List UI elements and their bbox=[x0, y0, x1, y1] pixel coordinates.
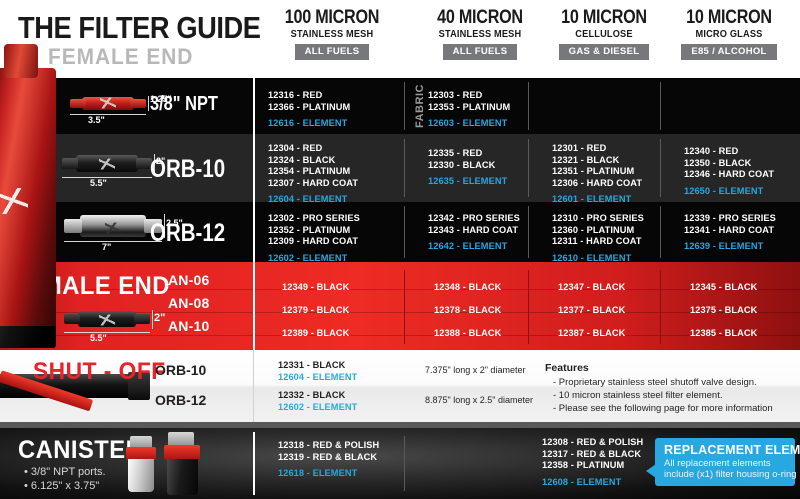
column-header-10-micron-micro-glass: 10 MICRON MICRO GLASS E85 / ALCOHOL bbox=[655, 8, 800, 60]
section-shut-off: SHUT - OFF ORB-10 ORB-12 12331 - BLACK 1… bbox=[0, 350, 800, 422]
cell-male-end-100-micron: 12349 - BLACK 12379 - BLACK 12389 - BLAC… bbox=[282, 276, 364, 350]
cell-orb-10-40-micron: 12335 - RED 12330 - BLACK 12635 - ELEMEN… bbox=[428, 148, 510, 188]
dimension-note-orb-10: 7.375" long x 2" diameter bbox=[425, 365, 525, 375]
cell-orb-10-10-micron-micro-glass: 12340 - RED 12350 - BLACK 12346 - HARD C… bbox=[684, 146, 777, 197]
part-number: 12311 - HARD COAT bbox=[552, 236, 644, 248]
part-number: 12354 - PLATINUM bbox=[268, 166, 380, 178]
part-number: 12309 - HARD COAT bbox=[268, 236, 360, 248]
part-number: 12351 - PLATINUM bbox=[552, 166, 642, 178]
cell-orb-12-10-micron-cellulose: 12310 - PRO SERIES 12360 - PLATINUM 1231… bbox=[552, 213, 647, 262]
element-part-number: 12602 - ELEMENT bbox=[268, 253, 360, 262]
column-media-label: CELLULOSE bbox=[536, 29, 672, 40]
part-number: 12307 - HARD COAT bbox=[268, 178, 380, 190]
part-number: 12308 - RED & POLISH bbox=[542, 437, 643, 449]
female-end-subtitle: FEMALE END bbox=[48, 44, 193, 70]
part-number: 12335 - RED bbox=[428, 148, 507, 160]
size-label-an-10: AN-10 bbox=[168, 318, 209, 334]
cell-canister-100-micron: 12318 - RED & POLISH 12319 - RED & BLACK… bbox=[278, 440, 382, 480]
part-number: 12310 - PRO SERIES bbox=[552, 213, 644, 225]
dimension-length: 5.5" bbox=[90, 333, 107, 343]
section-label-shut-off: SHUT - OFF bbox=[33, 358, 166, 386]
element-part-number: 12602 - ELEMENT bbox=[278, 402, 357, 414]
callout-line: include (x1) filter housing o-ring bbox=[664, 469, 787, 480]
header: THE FILTER GUIDE FEMALE END 100 MICRON S… bbox=[0, 0, 800, 78]
part-number: 12353 - PLATINUM bbox=[428, 102, 510, 114]
cell-canister-10-micron-cellulose: 12308 - RED & POLISH 12317 - RED & BLACK… bbox=[542, 437, 646, 488]
row-orb-12: 7" 2.5" ORB-12 12302 - PRO SERIES 12352 … bbox=[0, 202, 800, 262]
part-number: 12339 - PRO SERIES bbox=[684, 213, 776, 225]
row-label-shutoff-orb-12: ORB-12 bbox=[155, 392, 206, 408]
part-number: 12348 - BLACK bbox=[434, 276, 513, 299]
cell-male-end-40-micron: 12348 - BLACK 12378 - BLACK 12388 - BLAC… bbox=[434, 276, 516, 350]
part-number: 12377 - BLACK bbox=[558, 299, 637, 322]
element-part-number: 12610 - ELEMENT bbox=[552, 253, 644, 262]
column-header-100-micron: 100 MICRON STAINLESS MESH ALL FUELS bbox=[258, 8, 406, 60]
part-number: 12306 - HARD COAT bbox=[552, 178, 642, 190]
part-number: 12317 - RED & BLACK bbox=[542, 449, 643, 461]
page-title: THE FILTER GUIDE bbox=[18, 10, 261, 46]
dimension-length: 5.5" bbox=[90, 178, 107, 188]
part-number: 12324 - BLACK bbox=[268, 155, 380, 167]
feature-item: - Please see the following page for more… bbox=[553, 403, 773, 414]
element-part-number: 12616 - ELEMENT bbox=[268, 118, 350, 130]
element-part-number: 12604 - ELEMENT bbox=[268, 194, 380, 202]
part-number: 12321 - BLACK bbox=[552, 155, 642, 167]
cell-orb-10-100-micron: 12304 - RED 12324 - BLACK 12354 - PLATIN… bbox=[268, 143, 383, 202]
section-label-canister: CANISTER bbox=[18, 436, 143, 465]
cell-male-end-10-micron-cellulose: 12347 - BLACK 12377 - BLACK 12387 - BLAC… bbox=[558, 276, 640, 350]
part-number: 12352 - PLATINUM bbox=[268, 225, 360, 237]
part-number: 12379 - BLACK bbox=[282, 299, 361, 322]
part-number: 12358 - PLATINUM bbox=[542, 460, 643, 472]
row-label-3-8-npt: 3/8" NPT bbox=[150, 93, 218, 116]
dimension-length: 7" bbox=[102, 242, 111, 252]
part-number: 12385 - BLACK bbox=[690, 322, 769, 345]
element-part-number: 12604 - ELEMENT bbox=[278, 372, 357, 384]
part-number: 12378 - BLACK bbox=[434, 299, 513, 322]
element-part-number: 12650 - ELEMENT bbox=[684, 186, 774, 198]
filter-image-male-end: 5.5" 2" bbox=[60, 306, 170, 334]
replacement-elements-callout: REPLACEMENT ELEMENTS All replacement ele… bbox=[655, 438, 795, 486]
cell-orb-10-10-micron-cellulose: 12301 - RED 12321 - BLACK 12351 - PLATIN… bbox=[552, 143, 645, 202]
callout-line: All replacement elements bbox=[664, 458, 787, 469]
fabric-label: FABRIC bbox=[414, 84, 426, 128]
cell-orb-12-40-micron: 12342 - PRO SERIES 12343 - HARD COAT 126… bbox=[428, 213, 523, 253]
element-part-number: 12618 - ELEMENT bbox=[278, 468, 379, 480]
size-label-an-08: AN-08 bbox=[168, 295, 209, 311]
filter-guide-page: THE FILTER GUIDE FEMALE END 100 MICRON S… bbox=[0, 0, 800, 499]
part-number: 12304 - RED bbox=[268, 143, 380, 155]
part-number: 12303 - RED bbox=[428, 90, 510, 102]
canister-image-black bbox=[164, 432, 200, 494]
cell-orb-12-10-micron-micro-glass: 12339 - PRO SERIES 12341 - HARD COAT 126… bbox=[684, 213, 779, 253]
element-part-number: 12642 - ELEMENT bbox=[428, 241, 520, 253]
filter-image-3-8-npt: 3.5" 1.25" bbox=[62, 92, 158, 114]
cell-shutoff-orb-10: 12331 - BLACK 12604 - ELEMENT bbox=[278, 360, 360, 383]
column-media-label: STAINLESS MESH bbox=[412, 29, 548, 40]
row-label-orb-12: ORB-12 bbox=[150, 219, 225, 248]
canister-image-polish bbox=[126, 436, 158, 494]
part-number: 12345 - BLACK bbox=[690, 276, 769, 299]
row-label-shutoff-orb-10: ORB-10 bbox=[155, 362, 206, 378]
element-part-number: 12639 - ELEMENT bbox=[684, 241, 776, 253]
part-number: 12341 - HARD COAT bbox=[684, 225, 776, 237]
column-fuel-badge: E85 / ALCOHOL bbox=[681, 44, 776, 60]
section-canister: CANISTER • 3/8" NPT ports. • 6.125" x 3.… bbox=[0, 428, 800, 499]
part-number: 12340 - RED bbox=[684, 146, 774, 158]
part-number: 12342 - PRO SERIES bbox=[428, 213, 520, 225]
part-number: 12332 - BLACK bbox=[278, 390, 357, 402]
cell-male-end-10-micron-micro-glass: 12345 - BLACK 12375 - BLACK 12385 - BLAC… bbox=[690, 276, 772, 350]
element-part-number: 12608 - ELEMENT bbox=[542, 477, 643, 489]
part-number: 12350 - BLACK bbox=[684, 158, 774, 170]
column-media-label: MICRO GLASS bbox=[661, 29, 797, 40]
part-number: 12349 - BLACK bbox=[282, 276, 361, 299]
feature-item: - 10 micron stainless steel filter eleme… bbox=[553, 390, 722, 401]
part-number: 12319 - RED & BLACK bbox=[278, 452, 379, 464]
callout-title: REPLACEMENT ELEMENTS bbox=[664, 443, 787, 457]
part-number: 12331 - BLACK bbox=[278, 360, 357, 372]
dimension-length: 3.5" bbox=[88, 115, 105, 125]
canister-bullet: • 3/8" NPT ports. bbox=[24, 466, 106, 478]
part-number: 12346 - HARD COAT bbox=[684, 169, 774, 181]
size-label-an-06: AN-06 bbox=[168, 272, 209, 288]
column-fuel-badge: GAS & DIESEL bbox=[559, 44, 650, 60]
cell-3-8-npt-100-micron: 12316 - RED 12366 - PLATINUM 12616 - ELE… bbox=[268, 90, 353, 130]
dimension-note-orb-12: 8.875" long x 2.5" diameter bbox=[425, 395, 533, 405]
part-number: 12360 - PLATINUM bbox=[552, 225, 644, 237]
canister-bullet: • 6.125" x 3.75" bbox=[24, 480, 99, 492]
cell-orb-12-100-micron: 12302 - PRO SERIES 12352 - PLATINUM 1230… bbox=[268, 213, 363, 262]
features-title: Features bbox=[545, 362, 589, 374]
cell-3-8-npt-40-micron: 12303 - RED 12353 - PLATINUM 12603 - ELE… bbox=[428, 90, 513, 130]
part-number: 12302 - PRO SERIES bbox=[268, 213, 360, 225]
part-number: 12316 - RED bbox=[268, 90, 350, 102]
part-number: 12366 - PLATINUM bbox=[268, 102, 350, 114]
part-number: 12375 - BLACK bbox=[690, 299, 769, 322]
part-number: 12387 - BLACK bbox=[558, 322, 637, 345]
part-number: 12347 - BLACK bbox=[558, 276, 637, 299]
element-part-number: 12601 - ELEMENT bbox=[552, 194, 642, 202]
section-label-male-end: MALE END bbox=[42, 272, 170, 301]
part-number: 12388 - BLACK bbox=[434, 322, 513, 345]
part-number: 12343 - HARD COAT bbox=[428, 225, 520, 237]
part-number: 12301 - RED bbox=[552, 143, 642, 155]
column-micron-label: 40 MICRON bbox=[417, 8, 543, 28]
cell-shutoff-orb-12: 12332 - BLACK 12602 - ELEMENT bbox=[278, 390, 360, 413]
part-number: 12318 - RED & POLISH bbox=[278, 440, 379, 452]
column-micron-label: 100 MICRON bbox=[269, 8, 395, 28]
brand-logo-icon bbox=[0, 188, 28, 214]
column-micron-label: 10 MICRON bbox=[541, 8, 667, 28]
column-media-label: STAINLESS MESH bbox=[264, 29, 400, 40]
row-label-orb-10: ORB-10 bbox=[150, 155, 225, 184]
feature-item: - Proprietary stainless steel shutoff va… bbox=[553, 377, 757, 388]
dimension-diameter: 2" bbox=[154, 312, 165, 324]
part-number: 12330 - BLACK bbox=[428, 160, 507, 172]
column-micron-label: 10 MICRON bbox=[666, 8, 792, 28]
element-part-number: 12603 - ELEMENT bbox=[428, 118, 510, 130]
fuel-bottle-image bbox=[0, 68, 56, 326]
column-fuel-badge: ALL FUELS bbox=[443, 44, 518, 60]
element-part-number: 12635 - ELEMENT bbox=[428, 176, 507, 188]
column-fuel-badge: ALL FUELS bbox=[295, 44, 370, 60]
section-male-end: MALE END 5.5" 2" AN-06 AN-08 AN-10 12349… bbox=[0, 262, 800, 350]
row-3-8-npt: 3.5" 1.25" 3/8" NPT 12316 - RED 12366 - … bbox=[0, 78, 800, 134]
part-number: 12389 - BLACK bbox=[282, 322, 361, 345]
row-orb-10: 5.5" 2" ORB-10 12304 - RED 12324 - BLACK… bbox=[0, 134, 800, 202]
